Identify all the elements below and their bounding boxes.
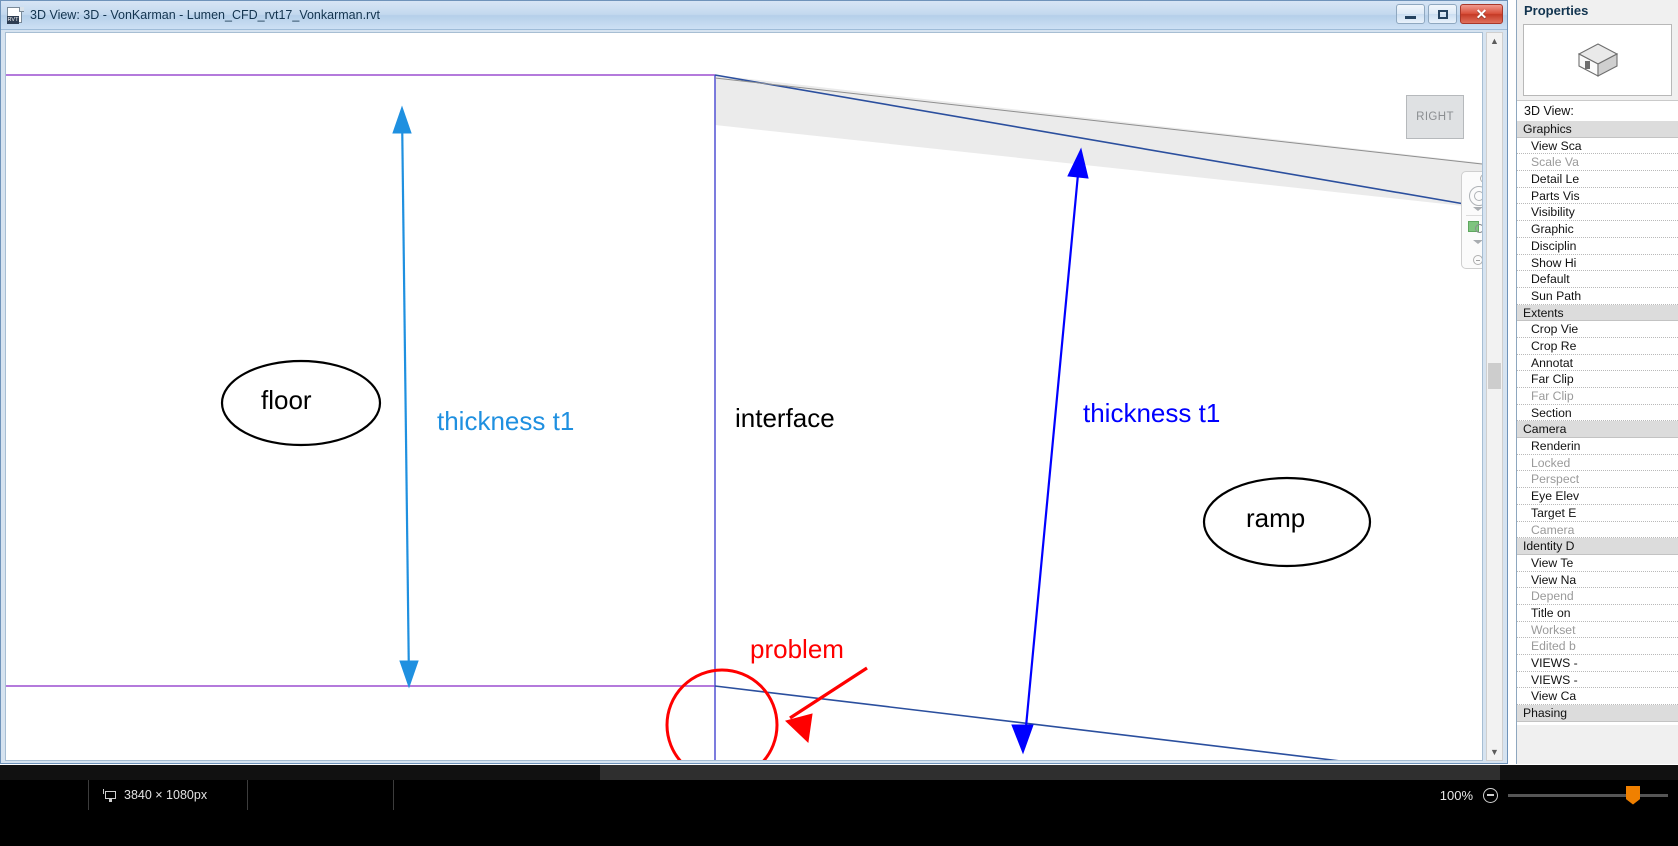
thickness-right-label: thickness t1 [1083,398,1220,429]
navbar-divider [1466,215,1483,216]
property-row[interactable]: Disciplin [1517,238,1678,255]
property-row[interactable]: Parts Vis [1517,188,1678,205]
property-row[interactable]: Perspect [1517,471,1678,488]
status-divider-3 [393,780,394,810]
property-row[interactable]: Edited b [1517,638,1678,655]
view-cube-face-right[interactable]: RIGHT [1406,95,1464,139]
floor-label: floor [261,385,312,416]
model-canvas-inner: floor ramp interface thickness t1 thickn… [6,33,1482,760]
property-row[interactable]: VIEWS - [1517,655,1678,672]
properties-rows-container[interactable]: GraphicsView ScaScale VaDetail LeParts V… [1517,121,1678,725]
status-divider-1 [88,780,89,810]
problem-label: problem [750,634,844,665]
property-row[interactable]: View Ca [1517,688,1678,705]
taskbar-strip-segment [600,765,1500,780]
property-section-header: Phasing [1517,705,1678,722]
property-row[interactable]: Phase Fi [1517,722,1678,725]
navbar-collapse-icon[interactable] [1473,255,1483,265]
ramp-label: ramp [1246,503,1305,534]
property-row[interactable]: Renderin [1517,438,1678,455]
scrollbar-thumb[interactable] [1488,363,1501,389]
property-row[interactable]: Visibility [1517,204,1678,221]
property-row[interactable]: Annotat [1517,355,1678,372]
view-type-selector[interactable]: 3D View: [1517,100,1678,121]
property-row[interactable]: Far Clip [1517,388,1678,405]
property-row[interactable]: Crop Vie [1517,321,1678,338]
screen-size-value: 3840 × 1080px [124,788,207,802]
3d-view-house-icon [1576,41,1620,79]
maximize-button[interactable] [1428,4,1457,24]
property-row[interactable]: Graphic [1517,221,1678,238]
close-icon: ✕ [1476,7,1488,21]
rvt-icon-label: RVT [7,16,19,24]
property-section-header: Camera [1517,421,1678,438]
thickness-left-dimension [393,107,418,687]
zoom-control[interactable]: 100% [1440,780,1668,810]
property-section-header: Extents [1517,305,1678,322]
property-row[interactable]: View Na [1517,572,1678,589]
property-row[interactable]: Scale Va [1517,154,1678,171]
zoom-dropdown-icon[interactable] [1473,240,1483,244]
revit-3d-view-window: RVT 3D View: 3D - VonKarman - Lumen_CFD_… [0,0,1508,764]
zoom-slider-track[interactable] [1508,794,1668,797]
property-row[interactable]: Default [1517,271,1678,288]
screen-root: RVT 3D View: 3D - VonKarman - Lumen_CFD_… [0,0,1678,846]
steering-wheel-icon[interactable] [1469,186,1483,206]
property-row[interactable]: Workset [1517,622,1678,639]
view-cube[interactable]: RIGHT [1406,95,1468,143]
property-row[interactable]: Show Hi [1517,255,1678,272]
problem-highlight-circle [667,670,777,760]
problem-arrow [786,668,867,742]
property-section-header: Identity D [1517,538,1678,555]
navbar-close-icon[interactable]: × [1480,174,1483,183]
view-type-preview[interactable] [1523,24,1672,96]
screen-size-cell: 3840 × 1080px [103,780,207,810]
property-row[interactable]: Title on [1517,605,1678,622]
property-section-header: Graphics [1517,121,1678,138]
close-button[interactable]: ✕ [1460,4,1503,24]
screen-size-icon [103,789,117,802]
thickness-right-dimension [1012,149,1088,753]
properties-panel: Properties 3D View: GraphicsView ScaScal… [1516,0,1678,764]
window-controls: ✕ [1396,4,1503,24]
property-row[interactable]: Target E [1517,505,1678,522]
property-row[interactable]: Crop Re [1517,338,1678,355]
status-bar: 3840 × 1080px 100% [0,780,1678,846]
property-row[interactable]: Sun Path [1517,288,1678,305]
rvt-document-icon: RVT [7,7,24,24]
property-row[interactable]: Locked [1517,455,1678,472]
property-row[interactable]: VIEWS - [1517,672,1678,689]
property-row[interactable]: View Sca [1517,138,1678,155]
zoom-out-icon[interactable] [1483,788,1498,803]
property-row[interactable]: Detail Le [1517,171,1678,188]
ramp-top-slope-edge [715,75,1482,207]
property-row[interactable]: Eye Elev [1517,488,1678,505]
properties-panel-title: Properties [1517,0,1678,22]
interface-label: interface [735,403,835,434]
property-row[interactable]: View Te [1517,555,1678,572]
taskbar-strip [0,765,1678,780]
window-title: 3D View: 3D - VonKarman - Lumen_CFD_rvt1… [30,8,380,22]
canvas-vertical-scrollbar[interactable]: ▲ ▼ [1486,32,1503,761]
steering-wheel-dropdown-icon[interactable] [1473,207,1483,211]
scroll-up-icon[interactable]: ▲ [1487,33,1502,49]
maximize-icon [1438,10,1448,19]
zoom-percent-label: 100% [1440,788,1473,803]
property-row[interactable]: Camera [1517,522,1678,539]
property-row[interactable]: Section [1517,405,1678,422]
property-row[interactable]: Far Clip [1517,371,1678,388]
scroll-down-icon[interactable]: ▼ [1487,744,1502,760]
property-row[interactable]: Depend [1517,588,1678,605]
status-divider-2 [247,780,248,810]
window-titlebar[interactable]: RVT 3D View: 3D - VonKarman - Lumen_CFD_… [1,1,1507,30]
minimize-icon [1405,16,1416,19]
zoom-slider-handle[interactable] [1626,786,1640,805]
minimize-button[interactable] [1396,4,1425,24]
thickness-left-label: thickness t1 [437,406,574,437]
ramp-bottom-slope-edge [715,686,1482,760]
model-geometry [6,33,1482,760]
model-canvas[interactable]: floor ramp interface thickness t1 thickn… [5,32,1483,761]
zoom-tool-icon[interactable] [1468,220,1483,238]
navigation-bar[interactable]: × [1461,171,1483,269]
